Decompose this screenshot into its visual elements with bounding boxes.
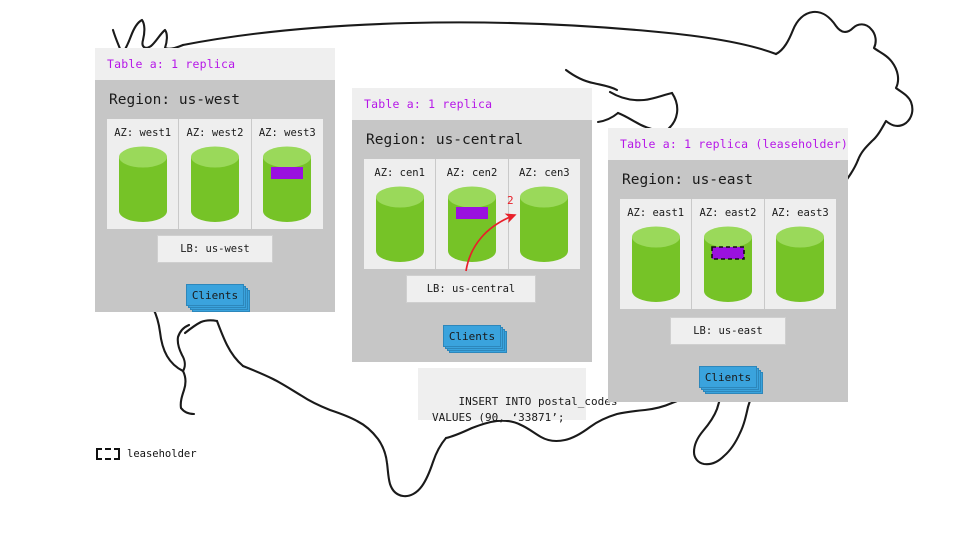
- az-label: AZ: east3: [772, 207, 829, 219]
- region-panel-us-central: Table a: 1 replica Region: us-central AZ…: [352, 88, 592, 362]
- load-balancer-label: LB: us-east: [693, 325, 763, 337]
- node-cylinder-west3[interactable]: [262, 146, 312, 222]
- load-balancer-us-west[interactable]: LB: us-west: [157, 235, 273, 263]
- clients-button-us-west[interactable]: Clients: [186, 284, 254, 314]
- sql-statement-box: INSERT INTO postal_codes VALUES (90, ‘33…: [418, 368, 586, 420]
- load-balancer-us-east[interactable]: LB: us-east: [670, 317, 786, 345]
- az-row-us-central: AZ: cen1 AZ: cen2: [364, 159, 580, 269]
- az-cell-east2[interactable]: AZ: east2: [692, 199, 764, 309]
- region-header-label: Table a: 1 replica: [364, 97, 492, 111]
- node-cylinder-cen3[interactable]: [519, 186, 569, 262]
- az-cell-cen1[interactable]: AZ: cen1: [364, 159, 436, 269]
- az-row-us-east: AZ: east1 AZ: east2: [620, 199, 836, 309]
- az-cell-cen3[interactable]: AZ: cen3: [509, 159, 580, 269]
- region-header-us-east: Table a: 1 replica (leaseholder): [608, 128, 848, 160]
- az-label: AZ: cen3: [519, 167, 570, 179]
- node-cylinder-cen2[interactable]: [447, 186, 497, 262]
- region-panel-us-west: Table a: 1 replica Region: us-west AZ: w…: [95, 48, 335, 312]
- az-cell-west2[interactable]: AZ: west2: [179, 119, 251, 229]
- load-balancer-us-central[interactable]: LB: us-central: [406, 275, 536, 303]
- node-cylinder-west1[interactable]: [118, 146, 168, 222]
- node-cylinder-cen1[interactable]: [375, 186, 425, 262]
- clients-button-us-east[interactable]: Clients: [699, 366, 767, 396]
- region-title: Region: us-west: [107, 80, 323, 119]
- region-header-us-west: Table a: 1 replica: [95, 48, 335, 80]
- load-balancer-label: LB: us-west: [180, 243, 250, 255]
- region-body-us-west: Region: us-west AZ: west1 AZ: west2: [95, 80, 335, 312]
- region-header-us-central: Table a: 1 replica: [352, 88, 592, 120]
- clients-label: Clients: [705, 371, 751, 384]
- az-cell-east1[interactable]: AZ: east1: [620, 199, 692, 309]
- az-cell-cen2[interactable]: AZ: cen2: [436, 159, 508, 269]
- region-panel-us-east: Table a: 1 replica (leaseholder) Region:…: [608, 128, 848, 402]
- az-cell-west1[interactable]: AZ: west1: [107, 119, 179, 229]
- az-label: AZ: east2: [700, 207, 757, 219]
- legend-label: leaseholder: [127, 448, 197, 460]
- az-label: AZ: west3: [259, 127, 316, 139]
- clients-label-wrap[interactable]: Clients: [699, 366, 757, 388]
- clients-label-wrap[interactable]: Clients: [186, 284, 244, 306]
- replica-marker-leaseholder: [712, 247, 744, 259]
- region-title: Region: us-east: [620, 160, 836, 199]
- clients-button-us-central[interactable]: Clients: [443, 325, 511, 355]
- region-body-us-central: Region: us-central AZ: cen1 AZ: cen2: [352, 120, 592, 362]
- clients-label: Clients: [449, 330, 495, 343]
- dashed-rect-icon: [96, 448, 120, 460]
- az-cell-east3[interactable]: AZ: east3: [765, 199, 836, 309]
- az-label: AZ: east1: [627, 207, 684, 219]
- region-header-label: Table a: 1 replica (leaseholder): [620, 137, 848, 151]
- az-label: AZ: west2: [187, 127, 244, 139]
- clients-label: Clients: [192, 289, 238, 302]
- flow-arrow-label: 2: [507, 194, 514, 207]
- az-label: AZ: cen1: [374, 167, 425, 179]
- node-cylinder-east3[interactable]: [775, 226, 825, 302]
- region-header-label: Table a: 1 replica: [107, 57, 235, 71]
- az-label: AZ: cen2: [447, 167, 498, 179]
- legend: leaseholder: [96, 448, 197, 460]
- replica-marker: [456, 207, 488, 219]
- diagram-canvas: Table a: 1 replica Region: us-west AZ: w…: [0, 0, 960, 540]
- az-label: AZ: west1: [114, 127, 171, 139]
- clients-label-wrap[interactable]: Clients: [443, 325, 501, 347]
- load-balancer-label: LB: us-central: [427, 283, 516, 295]
- node-cylinder-east1[interactable]: [631, 226, 681, 302]
- az-row-us-west: AZ: west1 AZ: west2: [107, 119, 323, 229]
- replica-marker: [271, 167, 303, 179]
- node-cylinder-east2[interactable]: [703, 226, 753, 302]
- node-cylinder-west2[interactable]: [190, 146, 240, 222]
- region-body-us-east: Region: us-east AZ: east1 AZ: east2: [608, 160, 848, 402]
- az-cell-west3[interactable]: AZ: west3: [252, 119, 323, 229]
- region-title: Region: us-central: [364, 120, 580, 159]
